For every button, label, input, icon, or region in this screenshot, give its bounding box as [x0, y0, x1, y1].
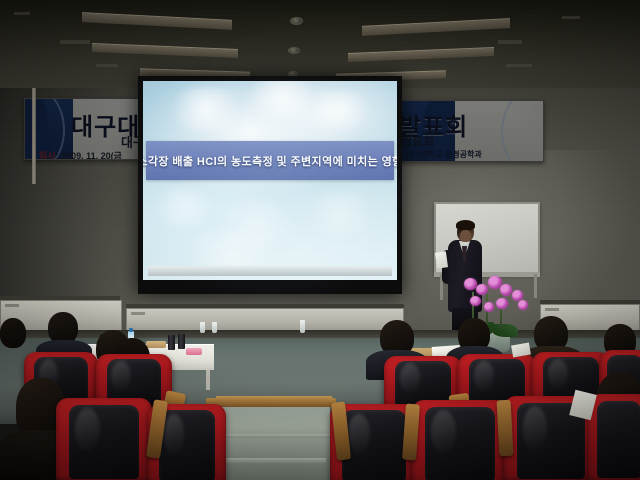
cloud-shape [295, 191, 383, 235]
banner-date-value: : 2009. 11. 20(금 [56, 151, 122, 160]
cloud-shape [303, 91, 379, 129]
ceiling-vent [562, 16, 580, 19]
whiteboard-leg [534, 274, 537, 298]
seat-highlight [523, 406, 547, 451]
auditorium-seat[interactable] [412, 400, 508, 480]
tan-package [146, 341, 166, 348]
banner-right: 발표회 발표회 : 대구대학교 환경공학과 [392, 100, 544, 162]
seat-back-panel [597, 401, 640, 478]
seat-highlight [548, 359, 568, 389]
auditorium-seat[interactable] [588, 394, 640, 480]
seat-highlight [474, 361, 494, 391]
ceiling-vent [506, 64, 532, 67]
orchid-leaf [492, 324, 518, 337]
table-leg [206, 370, 210, 390]
banner-left-date: 일시: 2009. 11. 20(금 [39, 149, 122, 160]
sprinkler-head-icon [290, 17, 303, 25]
aisle-step [212, 434, 330, 438]
orchid-bloom [518, 300, 528, 310]
orchid-bloom [496, 298, 508, 309]
presenter-hair [456, 220, 475, 230]
seat-highlight [164, 414, 184, 456]
seat-highlight [111, 361, 131, 391]
recessed-fluorescent-fixture [82, 12, 232, 30]
banner-right-dept: : 대구대학교 환경공학과 [401, 149, 482, 160]
aisle-wood-rail [206, 398, 336, 407]
aisle-step [216, 458, 326, 463]
projection-screen: 소각장 배출 HCl의 농도측정 및 주변지역에 미치는 영향 [138, 76, 402, 294]
orchid-bloom [470, 296, 481, 306]
beverage-can [178, 334, 185, 349]
pink-case [186, 348, 202, 355]
projected-slide: 소각장 배출 HCl의 농도측정 및 주변지역에 미치는 영향 [143, 81, 397, 280]
banner-right-subtitle: 발표회 [401, 133, 434, 150]
floor-bottle [212, 322, 217, 333]
orchid-bloom [500, 284, 512, 296]
auditorium-seat[interactable] [56, 398, 152, 480]
banner-arc-icon [501, 100, 544, 162]
presenter-face [460, 230, 471, 242]
ceiling-vent [14, 12, 30, 15]
cloud-shape [161, 87, 251, 131]
recessed-fluorescent-fixture [362, 18, 510, 36]
screen-mount-pole [32, 88, 36, 184]
orchid-bloom [484, 302, 494, 312]
ceiling-vent [60, 40, 90, 44]
seat-highlight [431, 410, 456, 454]
orchid-bloom [476, 284, 488, 295]
recessed-fluorescent-fixture [348, 47, 494, 62]
floor-bottle [200, 322, 205, 333]
seat-armrest [497, 400, 514, 457]
slide-title-band: 소각장 배출 HCl의 농도측정 및 주변지역에 미치는 영향 [146, 141, 394, 180]
floor-bottle [300, 320, 305, 333]
banner-date-label: 일시 [39, 151, 56, 160]
slide-title-text: 소각장 배출 HCl의 농도측정 및 주변지역에 미치는 영향 [143, 153, 397, 169]
beverage-can [168, 335, 175, 350]
center-aisle [212, 404, 330, 480]
seat-highlight [75, 408, 100, 452]
ceiling-vent [96, 64, 118, 67]
ceiling-vent [498, 40, 522, 44]
audience-head [0, 318, 26, 348]
sprinkler-head-icon [288, 47, 300, 54]
seat-highlight [400, 363, 420, 393]
photo-scene: 대구대 대구 일시: 2009. 11. 20(금 발표회 발표회 : 대구대학… [0, 0, 640, 480]
presenter-notes-paper [435, 251, 448, 268]
recessed-fluorescent-fixture [92, 43, 238, 58]
screen-bottom-edge [148, 266, 392, 276]
